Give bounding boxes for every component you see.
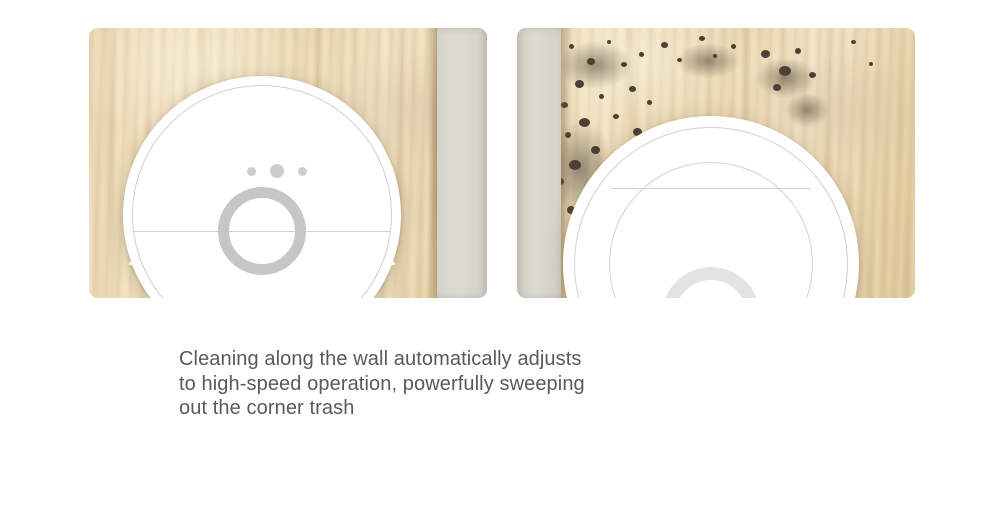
robot-small-button-left <box>247 167 256 176</box>
debris-speck <box>773 84 781 91</box>
debris-speck <box>851 40 856 44</box>
debris-speck <box>579 118 590 127</box>
debris-speck <box>809 72 816 78</box>
comparison-caption-good-case: Cleaning along the wall automatically ad… <box>179 347 591 421</box>
robot-vacuum-dirty-wall-photo <box>517 28 915 298</box>
debris-speck <box>731 44 736 49</box>
debris-speck <box>621 62 627 67</box>
wall-strip-right <box>437 28 487 298</box>
comparison-panel-bad-case: Cleaning along the wall does not increas… <box>517 28 915 298</box>
debris-speck <box>629 86 636 92</box>
debris-smudge <box>779 88 835 132</box>
debris-speck <box>761 50 770 58</box>
robot-vacuum-clean-wall-photo <box>89 28 487 298</box>
robot-bumper-notch-left <box>129 262 136 265</box>
comparison-panel-good-case: Cleaning along the wall automatically ad… <box>89 28 487 298</box>
debris-speck <box>713 54 717 58</box>
debris-speck <box>607 40 611 44</box>
robot-small-button-right <box>298 167 307 176</box>
debris-speck <box>869 62 873 66</box>
product-comparison-page: Cleaning along the wall automatically ad… <box>0 0 1000 532</box>
robot-button-group <box>123 164 401 178</box>
debris-speck <box>647 100 652 105</box>
debris-speck <box>591 146 600 154</box>
wall-strip-left <box>517 28 561 298</box>
robot-power-button <box>270 164 284 178</box>
debris-speck <box>575 80 584 88</box>
debris-speck <box>613 114 619 119</box>
robot-bumper-notch-right <box>388 262 395 265</box>
debris-speck <box>795 48 801 54</box>
debris-speck <box>699 36 705 41</box>
wall-shadow <box>427 28 437 298</box>
debris-speck <box>661 42 668 48</box>
robot-lid-divider-line <box>611 188 811 189</box>
debris-speck <box>587 58 595 65</box>
debris-speck <box>599 94 604 99</box>
robot-center-ring <box>218 187 306 275</box>
debris-speck <box>639 52 644 57</box>
debris-speck <box>779 66 791 76</box>
debris-speck <box>677 58 682 62</box>
